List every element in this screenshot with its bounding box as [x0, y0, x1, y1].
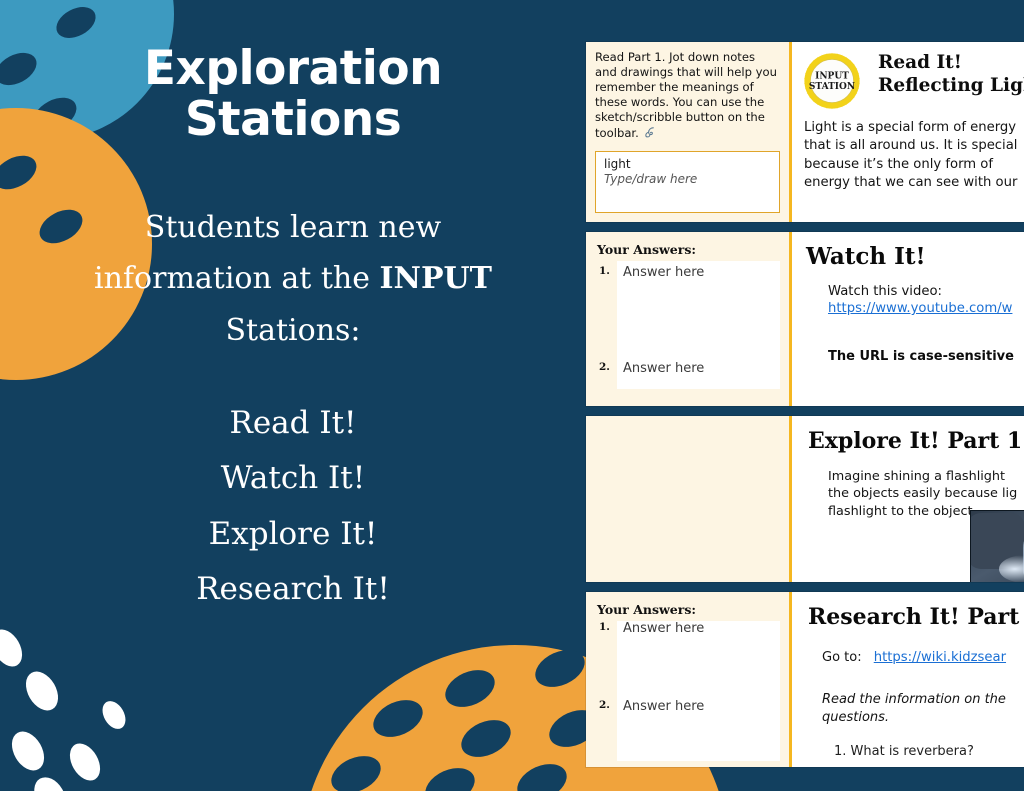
answer-value: Answer here — [623, 265, 704, 280]
answers-title: Your Answers: — [597, 242, 780, 257]
read-it-heading: Read It! Reflecting Light — [878, 52, 1024, 97]
research-content-pane: Research It! Part 1 Go to: https://wiki.… — [792, 592, 1024, 767]
explore-it-heading: Explore It! Part 1 — [808, 428, 1024, 454]
vocabulary-word: light — [604, 157, 771, 171]
watch-video-label: Watch this video: — [828, 284, 1024, 299]
station-list-item: Watch It! — [83, 451, 503, 506]
answer-row[interactable]: 1. Answer here — [617, 265, 780, 280]
read-it-heading-line2: Reflecting Light — [878, 75, 1024, 98]
read-instructions-text: Read Part 1. Jot down notes and drawings… — [595, 50, 780, 144]
scribble-icon[interactable] — [643, 125, 658, 144]
goto-label: Go to: — [822, 650, 862, 665]
station-list-item: Research It! — [83, 562, 503, 617]
decor-dot — [5, 726, 50, 776]
body-line: Imagine shining a flashlight — [828, 468, 1024, 485]
decor-dot — [0, 624, 28, 672]
vocabulary-placeholder: Type/draw here — [604, 172, 771, 186]
answer-number: 1. — [599, 621, 610, 633]
research-question-clipped: 1. What is reverbera? — [834, 744, 1024, 759]
read-instructions-body: Read Part 1. Jot down notes and drawings… — [595, 50, 777, 140]
answer-number: 2. — [599, 699, 610, 711]
url-case-note: The URL is case-sensitive — [828, 349, 1024, 364]
decor-dot — [19, 666, 64, 716]
lead-text-part2: Stations: — [225, 313, 360, 348]
body-line: that is all around us. It is special — [804, 137, 1024, 155]
watch-answers-pane: Your Answers: 1. Answer here 2. Answer h… — [586, 232, 792, 406]
explore-answers-pane — [586, 416, 792, 582]
panel-research-it: Your Answers: 1. Answer here 2. Answer h… — [586, 592, 1024, 767]
read-it-body: Light is a special form of energy that i… — [804, 119, 1024, 192]
decor-dot — [98, 697, 130, 733]
vocabulary-entry-box[interactable]: light Type/draw here — [595, 151, 780, 213]
input-station-seal-icon: INPUT STATION — [802, 51, 862, 111]
watch-it-heading: Watch It! — [806, 243, 1024, 270]
answer-value: Answer here — [623, 361, 704, 376]
read-content-pane: INPUT STATION Read It! Reflecting Light … — [792, 42, 1024, 222]
body-line: because it’s the only form of — [804, 156, 1024, 174]
seal-line-2: STATION — [809, 82, 855, 92]
answer-row[interactable]: 1. Answer here — [617, 621, 780, 636]
lead-text-emphasis: INPUT — [379, 261, 492, 296]
station-list-item: Read It! — [83, 396, 503, 451]
video-url-link[interactable]: https://www.youtube.com/w — [828, 301, 1024, 316]
body-line: energy that we can see with our — [804, 174, 1024, 192]
station-list-item: Explore It! — [83, 507, 503, 562]
body-line: the objects easily because lig — [828, 485, 1024, 502]
panel-watch-it: Your Answers: 1. Answer here 2. Answer h… — [586, 232, 1024, 406]
answer-value: Answer here — [623, 699, 704, 714]
answers-sheet[interactable]: 1. Answer here 2. Answer here — [617, 621, 780, 761]
body-line: questions. — [822, 709, 1024, 727]
orange-circle-decoration-left — [0, 108, 152, 380]
page-title-line2: Stations — [78, 95, 508, 146]
research-goto-row: Go to: https://wiki.kidzsear — [822, 650, 1024, 665]
decor-dot — [28, 772, 72, 791]
answer-number: 2. — [599, 361, 610, 373]
slide-canvas: Exploration Stations Students learn new … — [0, 0, 1024, 791]
research-it-heading: Research It! Part 1 — [808, 604, 1024, 630]
seal-line-1: INPUT — [815, 72, 849, 82]
answer-row[interactable]: 2. Answer here — [617, 699, 780, 714]
child-with-flashlight-photo — [970, 510, 1024, 582]
research-instructions: Read the information on the questions. — [822, 691, 1024, 726]
screenshot-panels: Read Part 1. Jot down notes and drawings… — [586, 0, 1024, 791]
answers-sheet[interactable]: 1. Answer here 2. Answer here — [617, 261, 780, 389]
answer-number: 1. — [599, 265, 610, 277]
read-instructions-pane: Read Part 1. Jot down notes and drawings… — [586, 42, 792, 222]
answer-value: Answer here — [623, 621, 704, 636]
body-line: Read the information on the — [822, 691, 1024, 709]
answers-title: Your Answers: — [597, 602, 780, 617]
panel-read-it: Read Part 1. Jot down notes and drawings… — [586, 42, 1024, 222]
read-it-heading-line1: Read It! — [878, 52, 1024, 75]
body-line: Light is a special form of energy — [804, 119, 1024, 137]
watch-content-pane: Watch It! Watch this video: https://www.… — [792, 232, 1024, 406]
research-answers-pane: Your Answers: 1. Answer here 2. Answer h… — [586, 592, 792, 767]
explore-content-pane: Explore It! Part 1 Imagine shining a fla… — [792, 416, 1024, 582]
panel-explore-it: Explore It! Part 1 Imagine shining a fla… — [586, 416, 1024, 582]
research-url-link[interactable]: https://wiki.kidzsear — [874, 650, 1006, 665]
answer-row[interactable]: 2. Answer here — [617, 361, 780, 376]
decor-dot — [64, 738, 107, 786]
station-list: Read It! Watch It! Explore It! Research … — [83, 396, 503, 617]
